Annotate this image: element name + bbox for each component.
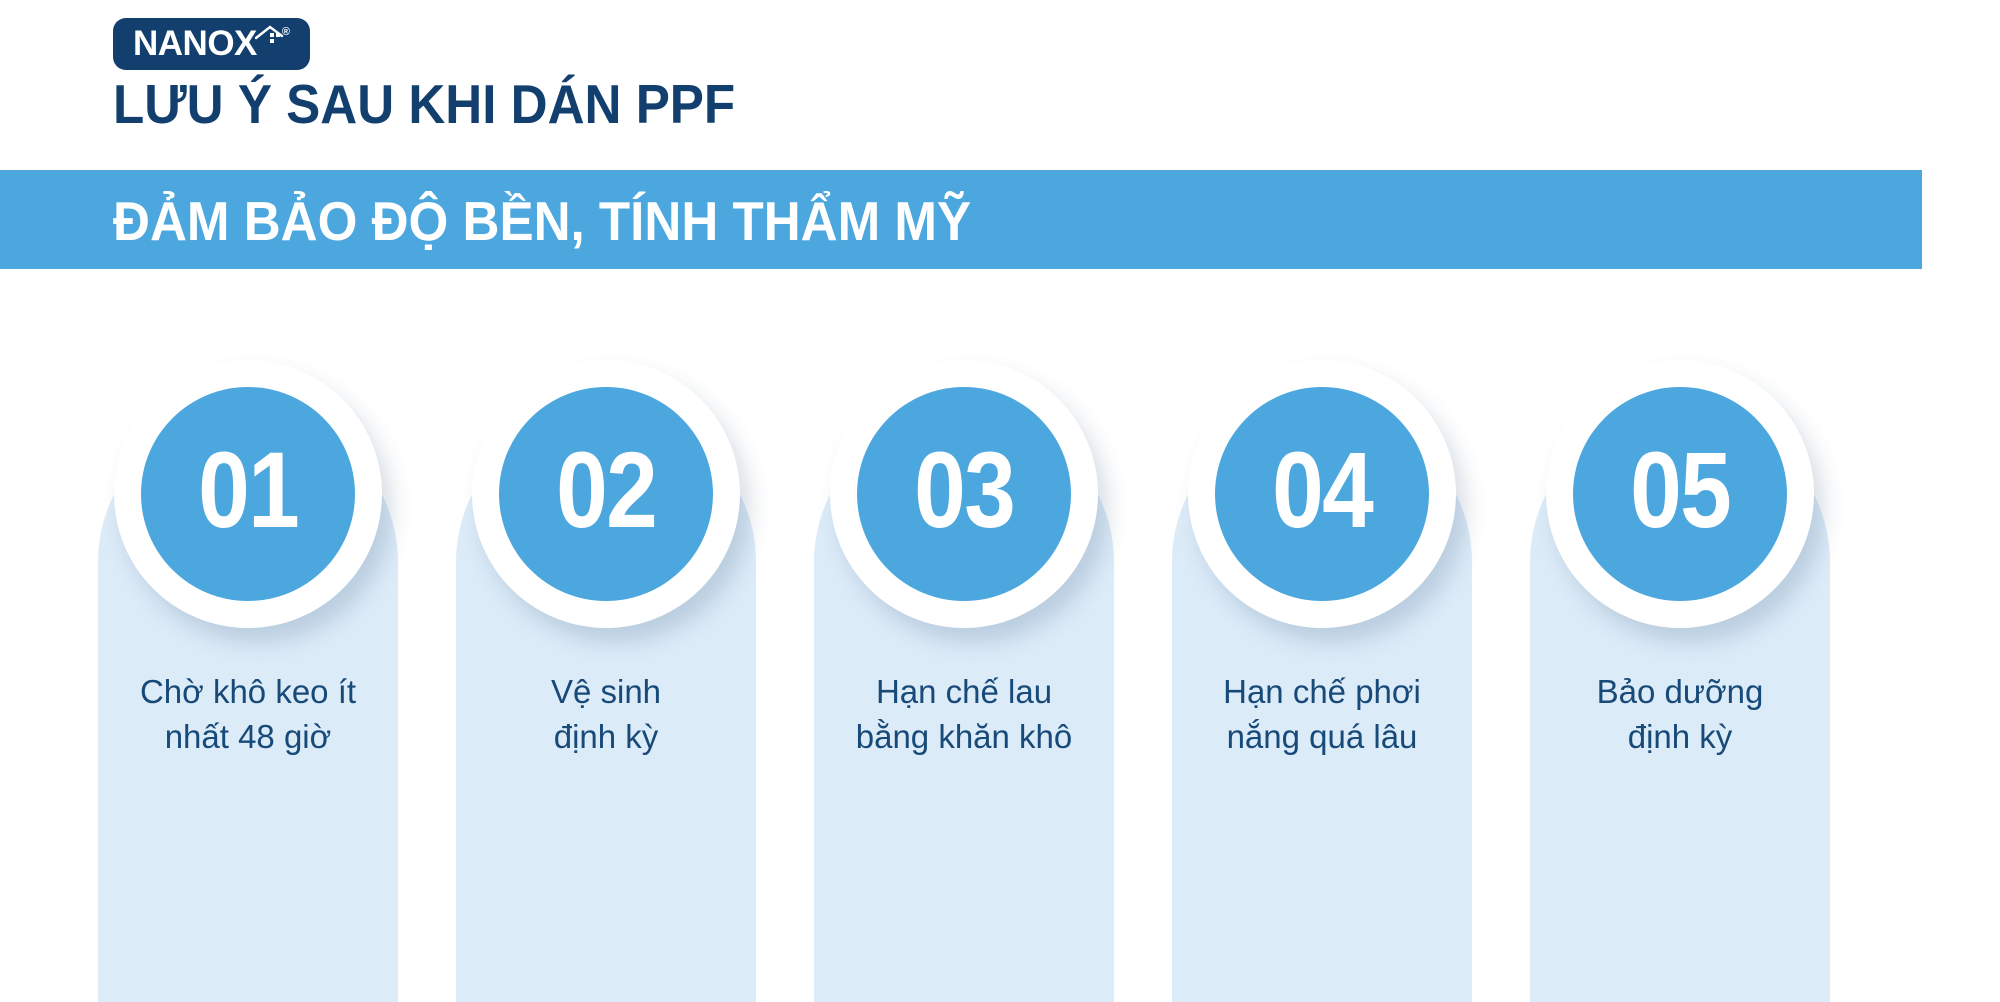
step-number-badge: 01 — [114, 360, 382, 628]
roof-house-icon — [254, 24, 284, 64]
step-number-badge: 03 — [830, 360, 1098, 628]
step-caption-line-2: nắng quá lâu — [1172, 715, 1472, 760]
step-badge-fill: 01 — [141, 387, 355, 601]
step-number-badge: 05 — [1546, 360, 1814, 628]
step-number: 04 — [1272, 436, 1372, 544]
step-number: 01 — [198, 436, 298, 544]
step-caption-line-1: Chờ khô keo ít — [98, 670, 398, 715]
step-caption-line-2: bằng khăn khô — [814, 715, 1114, 760]
step-caption: Hạn chế lau bằng khăn khô — [814, 670, 1114, 759]
step-badge-fill: 02 — [499, 387, 713, 601]
step-badge-fill: 05 — [1573, 387, 1787, 601]
page-title: LƯU Ý SAU KHI DÁN PPF — [113, 76, 735, 134]
brand-logo: NANOX ® — [113, 18, 310, 70]
step-number: 05 — [1630, 436, 1730, 544]
brand-logo-text: NANOX — [133, 26, 257, 61]
step-caption-line-2: nhất 48 giờ — [98, 715, 398, 760]
step-caption-line-1: Vệ sinh — [456, 670, 756, 715]
step-badge-fill: 03 — [857, 387, 1071, 601]
step-number: 03 — [914, 436, 1014, 544]
step-number: 02 — [556, 436, 656, 544]
step-caption-line-1: Hạn chế lau — [814, 670, 1114, 715]
step-caption: Bảo dưỡng định kỳ — [1530, 670, 1830, 759]
registered-trademark-icon: ® — [282, 26, 290, 38]
subtitle-text: ĐẢM BẢO ĐỘ BỀN, TÍNH THẨM MỸ — [113, 194, 971, 249]
step-caption-line-2: định kỳ — [456, 715, 756, 760]
step-caption: Hạn chế phơi nắng quá lâu — [1172, 670, 1472, 759]
step-caption: Vệ sinh định kỳ — [456, 670, 756, 759]
step-caption: Chờ khô keo ít nhất 48 giờ — [98, 670, 398, 759]
subtitle-banner: ĐẢM BẢO ĐỘ BỀN, TÍNH THẨM MỸ — [0, 170, 1922, 269]
step-caption-line-1: Bảo dưỡng — [1530, 670, 1830, 715]
step-caption-line-2: định kỳ — [1530, 715, 1830, 760]
step-number-badge: 02 — [472, 360, 740, 628]
step-caption-line-1: Hạn chế phơi — [1172, 670, 1472, 715]
step-badge-fill: 04 — [1215, 387, 1429, 601]
step-number-badge: 04 — [1188, 360, 1456, 628]
